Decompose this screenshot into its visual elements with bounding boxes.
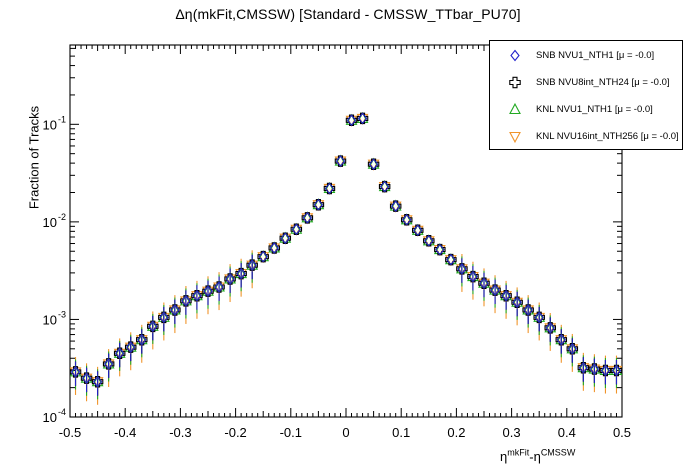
chart-canvas: Δη(mkFit,CMSSW) [Standard - CMSSW_TTbar_… xyxy=(0,0,696,472)
legend-label: SNB NVU1_NTH1 [μ = -0.0] xyxy=(536,42,654,69)
legend-marker-glyph xyxy=(510,77,520,87)
x-tick-label: -0.5 xyxy=(59,425,81,440)
x-tick-label: 0.3 xyxy=(503,425,521,440)
y-tick-label: 10 xyxy=(43,312,57,327)
x-tick-label: 0.1 xyxy=(392,425,410,440)
y-tick-label-exponent: -1 xyxy=(58,114,66,124)
legend-marker-open-triangle-down-icon xyxy=(498,123,532,150)
y-tick-label-exponent: -2 xyxy=(58,212,66,222)
y-tick-label-exponent: -4 xyxy=(58,407,66,417)
legend-entry-3[interactable]: KNL NVU16int_NTH256 [μ = -0.0] xyxy=(490,123,682,150)
legend-marker-shape xyxy=(511,51,519,61)
y-tick-label: 10 xyxy=(43,215,57,230)
x-tick-label: 0.5 xyxy=(613,425,631,440)
legend-marker-glyph xyxy=(511,51,519,61)
legend-label: SNB NVU8int_NTH24 [μ = -0.0] xyxy=(536,69,670,96)
x-tick-label: -0.3 xyxy=(169,425,191,440)
legend-marker-open-cross-icon xyxy=(498,69,532,96)
legend-marker-shape xyxy=(510,133,520,142)
legend-marker-shape xyxy=(510,77,520,87)
legend-entry-0[interactable]: SNB NVU1_NTH1 [μ = -0.0] xyxy=(490,42,682,69)
legend-entry-1[interactable]: SNB NVU8int_NTH24 [μ = -0.0] xyxy=(490,69,682,96)
legend-box: SNB NVU1_NTH1 [μ = -0.0]SNB NVU8int_NTH2… xyxy=(489,40,683,150)
y-tick-label-exponent: -3 xyxy=(58,309,66,319)
legend-marker-shape xyxy=(510,104,520,113)
legend-entry-2[interactable]: KNL NVU1_NTH1 [μ = -0.0] xyxy=(490,96,682,123)
y-tick-label: 10 xyxy=(43,117,57,132)
legend-marker-glyph xyxy=(510,104,520,113)
legend-marker-glyph xyxy=(510,133,520,142)
x-tick-label: -0.4 xyxy=(114,425,136,440)
x-tick-label: 0.2 xyxy=(447,425,465,440)
x-tick-label: -0.2 xyxy=(224,425,246,440)
series-markers-0 xyxy=(72,113,621,386)
legend-marker-open-triangle-up-icon xyxy=(498,96,532,123)
x-tick-label: 0.4 xyxy=(558,425,576,440)
x-tick-label: 0 xyxy=(342,425,349,440)
legend-marker-open-diamond-icon xyxy=(498,42,532,69)
legend-label: KNL NVU1_NTH1 [μ = -0.0] xyxy=(536,96,653,123)
legend-label: KNL NVU16int_NTH256 [μ = -0.0] xyxy=(536,123,679,150)
y-tick-label: 10 xyxy=(43,410,57,425)
x-tick-label: -0.1 xyxy=(280,425,302,440)
y-tick-labels: 10-410-310-210-1 xyxy=(43,114,66,425)
x-tick-labels: -0.5-0.4-0.3-0.2-0.100.10.20.30.40.5 xyxy=(59,425,631,440)
